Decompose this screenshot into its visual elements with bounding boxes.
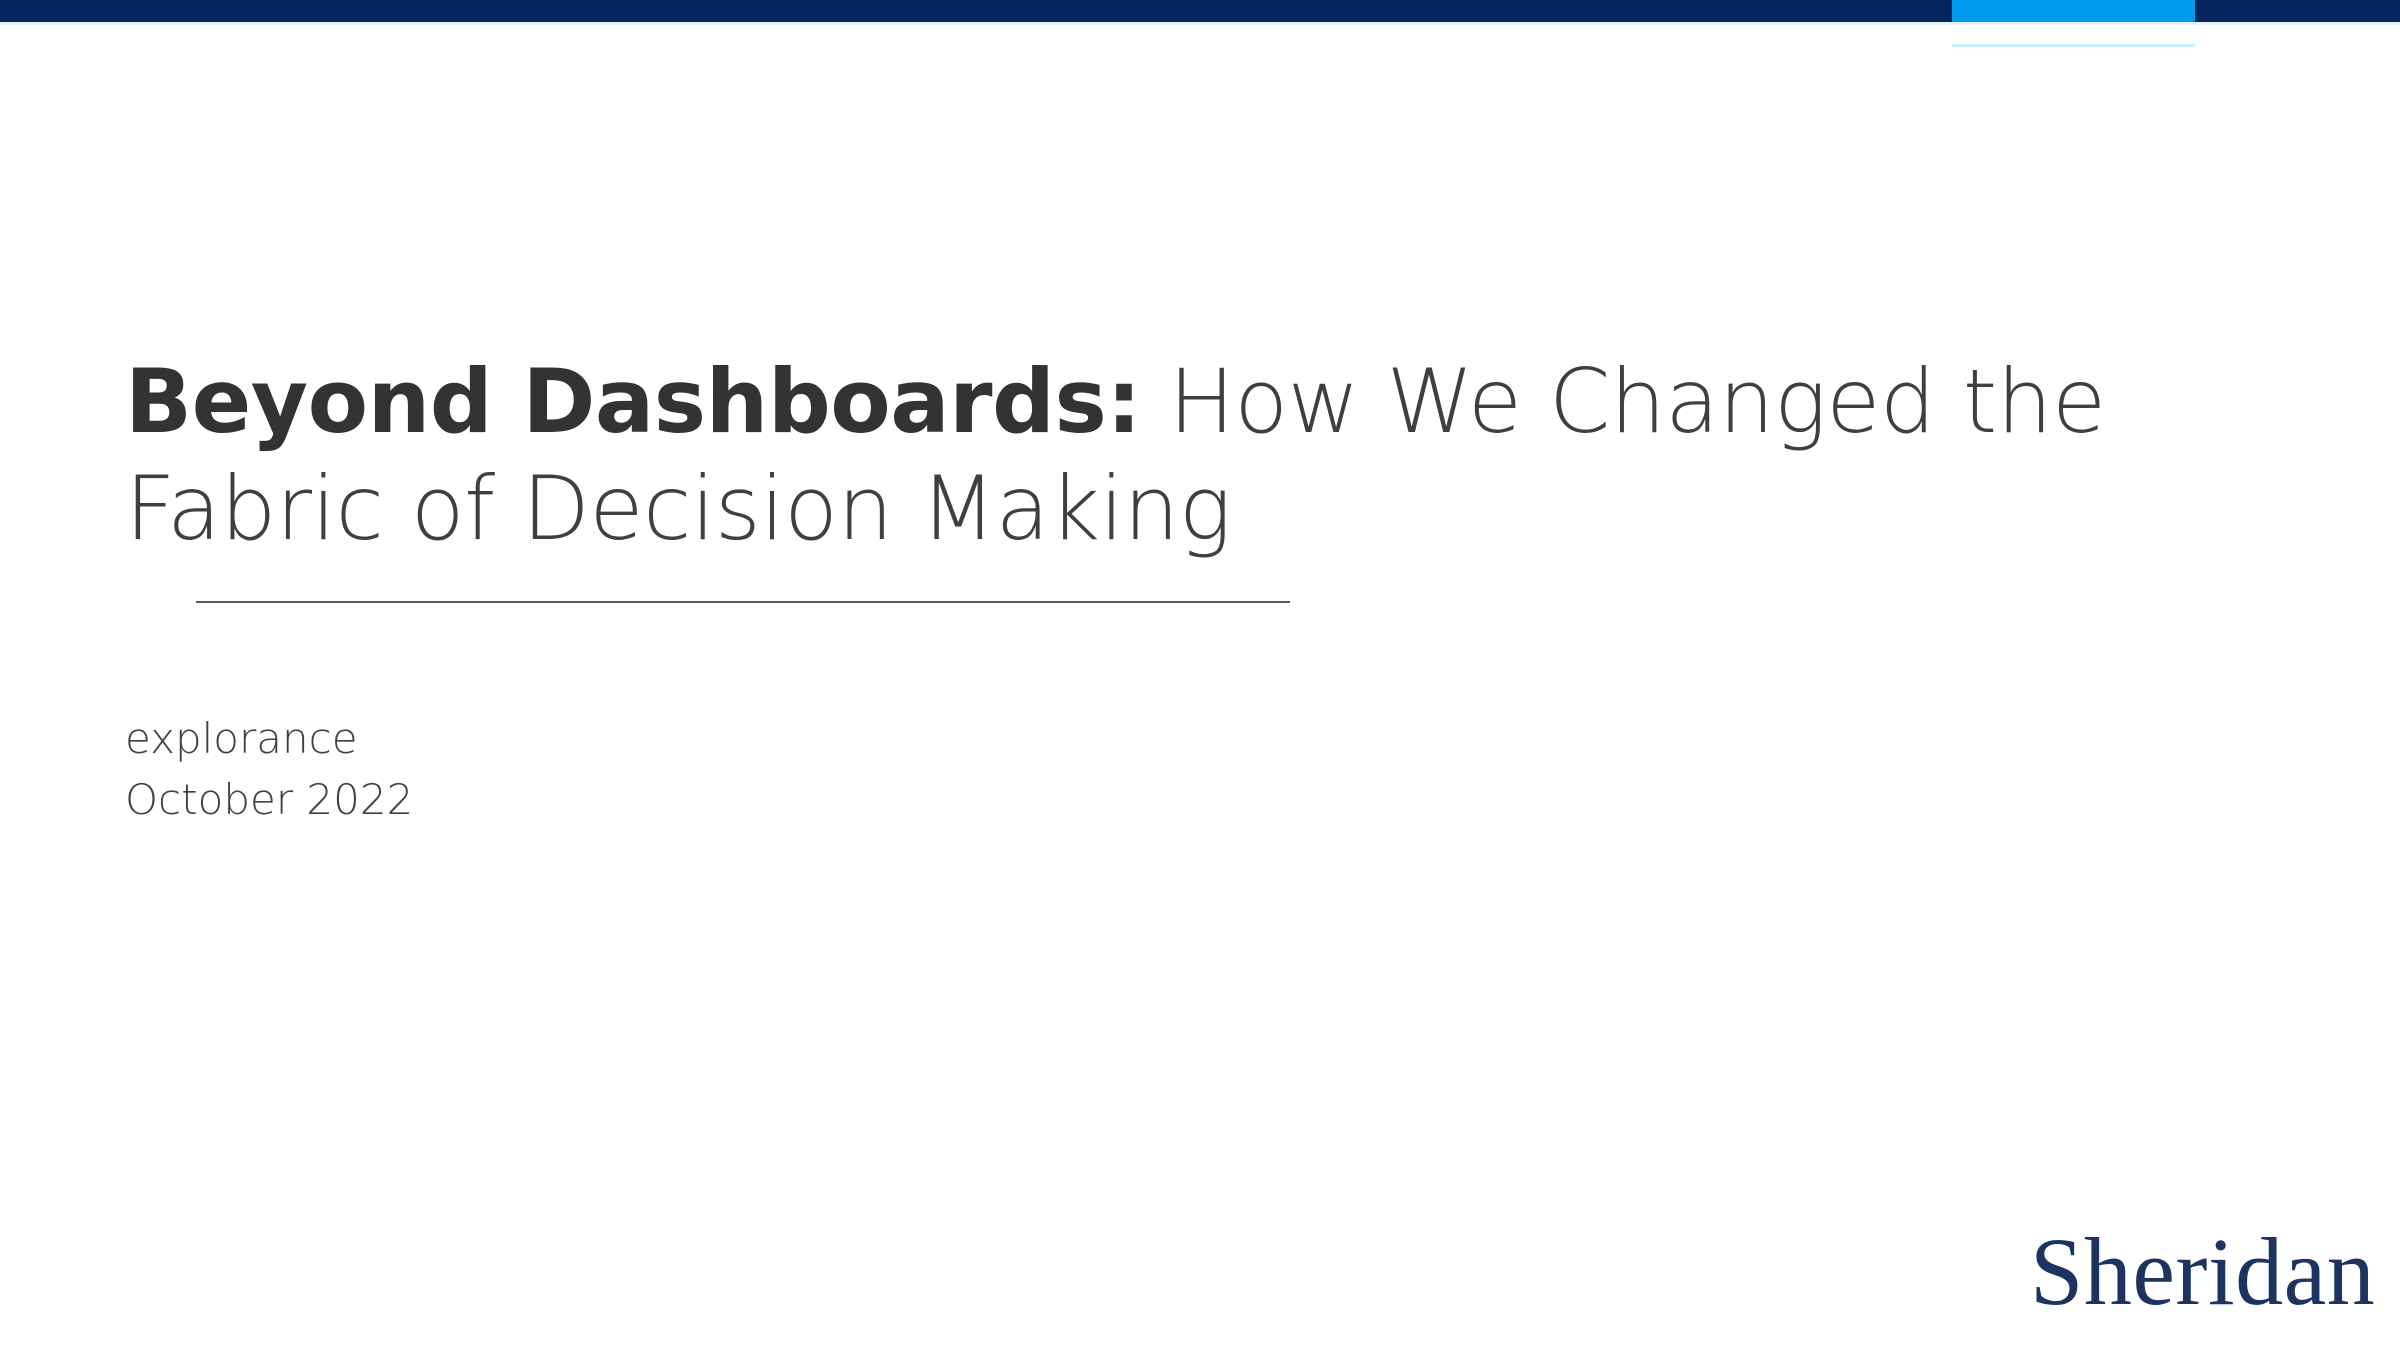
page-title: Beyond Dashboards: How We Changed the Fa… — [125, 348, 2225, 562]
top-accent-bar-underline-highlight — [1952, 44, 2195, 47]
subtitle-block: explorance October 2022 — [125, 708, 413, 830]
top-accent-bar-underline — [0, 22, 2400, 25]
title-block: Beyond Dashboards: How We Changed the Fa… — [125, 348, 2225, 562]
title-slide: Beyond Dashboards: How We Changed the Fa… — [0, 0, 2400, 1350]
subtitle-organization: explorance — [125, 708, 413, 769]
top-accent-bar-highlight — [1952, 0, 2195, 22]
page-title-space — [1141, 350, 1168, 453]
top-accent-bar — [0, 0, 2400, 22]
page-title-lead: Beyond Dashboards: — [125, 350, 1141, 453]
subtitle-date: October 2022 — [125, 769, 413, 830]
sheridan-logo: Sheridan — [2030, 1222, 2375, 1322]
title-divider-rule — [196, 601, 1290, 603]
